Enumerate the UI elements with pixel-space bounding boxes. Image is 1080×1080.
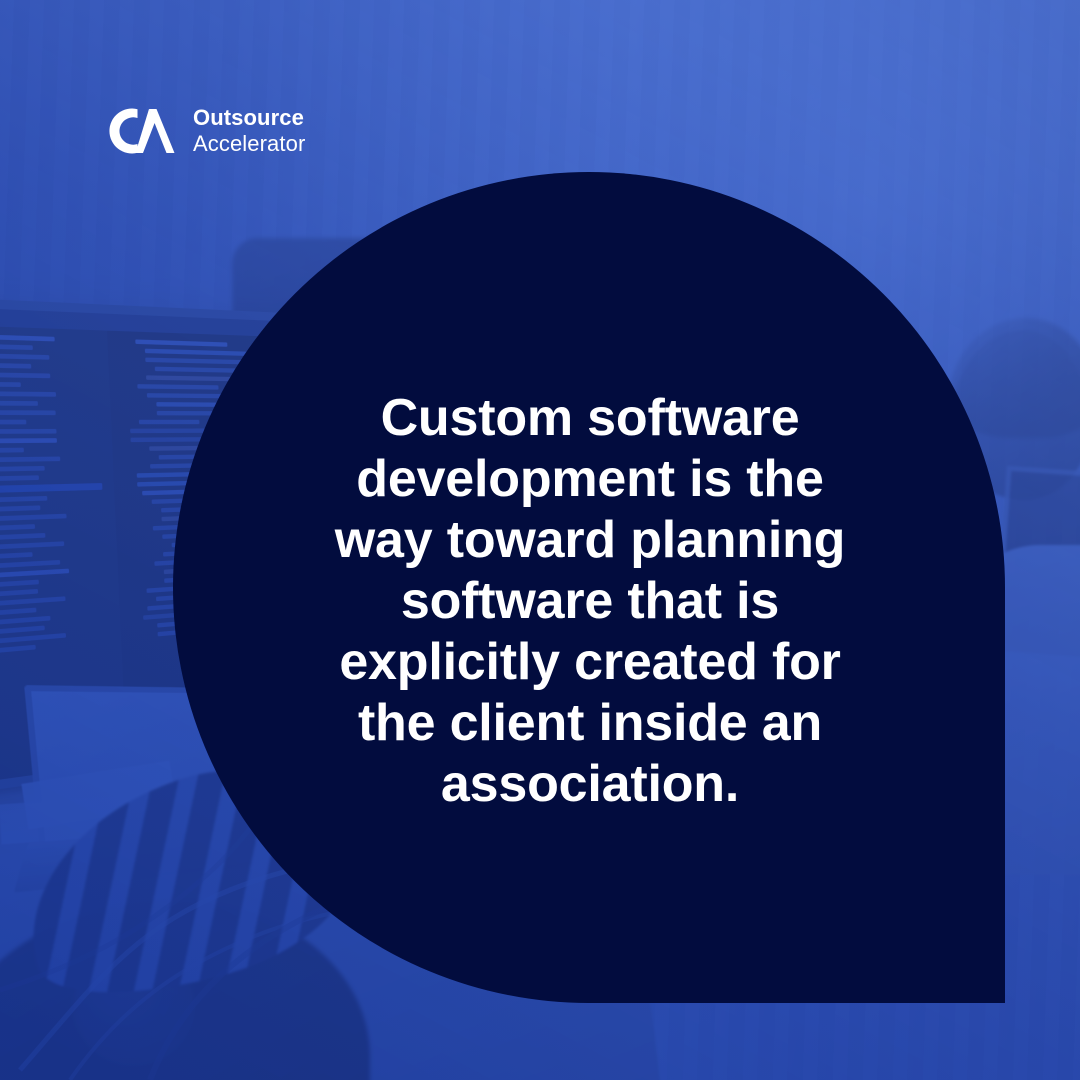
logo-line-accelerator: Accelerator xyxy=(193,131,305,157)
quote-line: development is the xyxy=(240,449,940,510)
logo-line-outsource: Outsource xyxy=(193,105,305,131)
quote-line: the client inside an xyxy=(240,693,940,754)
quote-line: software that is xyxy=(240,571,940,632)
brand-logo[interactable]: Outsource Accelerator xyxy=(105,103,305,159)
quote-line: Custom software xyxy=(240,388,940,449)
quote-line: explicitly created for xyxy=(240,632,940,693)
logo-wordmark: Outsource Accelerator xyxy=(193,105,305,156)
quote-card-canvas: Outsource Accelerator Custom software de… xyxy=(0,0,1080,1080)
outsource-accelerator-logo-icon xyxy=(105,103,177,159)
quote-text-block: Custom software development is the way t… xyxy=(240,388,940,815)
quote-line: association. xyxy=(240,754,940,815)
quote-line: way toward planning xyxy=(240,510,940,571)
